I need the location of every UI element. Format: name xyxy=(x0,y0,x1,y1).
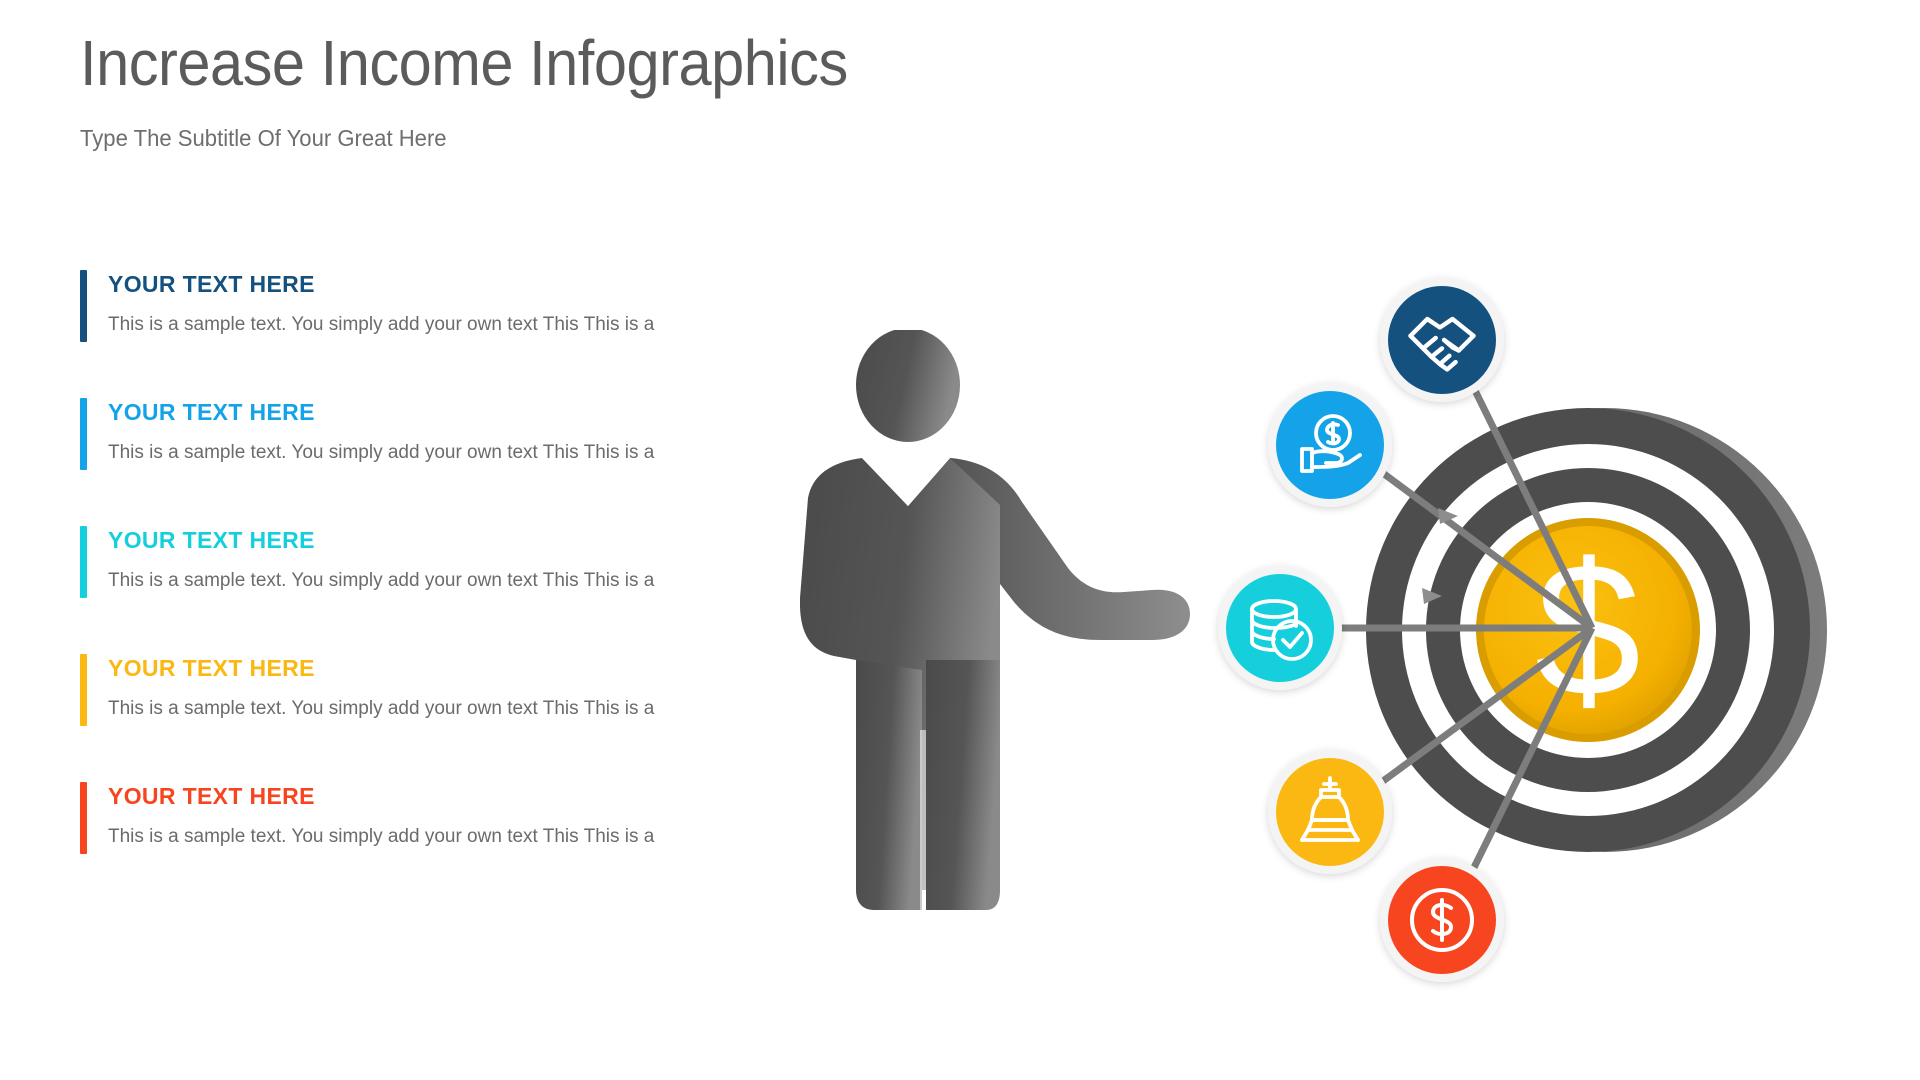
bullet-item-5[interactable]: YOUR TEXT HERE This is a sample text. Yo… xyxy=(80,774,780,902)
badge-coin-stack-check[interactable] xyxy=(1218,566,1342,690)
bullet-item-2[interactable]: YOUR TEXT HERE This is a sample text. Yo… xyxy=(80,390,780,518)
bullet-list: YOUR TEXT HERE This is a sample text. Yo… xyxy=(80,262,780,902)
badge-dollar-coin[interactable] xyxy=(1380,858,1504,982)
bullet-heading-5: YOUR TEXT HERE xyxy=(108,774,780,811)
page-title: Increase Income Infographics xyxy=(80,28,1103,100)
target-infographic: $ xyxy=(1190,240,1920,1030)
page-subtitle: Type The Subtitle Of Your Great Here xyxy=(80,125,1136,152)
bullet-heading-4: YOUR TEXT HERE xyxy=(108,646,780,683)
bullet-heading-2: YOUR TEXT HERE xyxy=(108,390,780,427)
bullet-body-3: This is a sample text. You simply add yo… xyxy=(108,569,780,594)
badge-handshake[interactable] xyxy=(1380,278,1504,402)
accent-bar-2 xyxy=(80,398,87,470)
accent-bar-1 xyxy=(80,270,87,342)
bullet-body-1: This is a sample text. You simply add yo… xyxy=(108,313,780,338)
bullet-body-2: This is a sample text. You simply add yo… xyxy=(108,441,780,466)
bullet-body-5: This is a sample text. You simply add yo… xyxy=(108,825,780,850)
accent-bar-4 xyxy=(80,654,87,726)
accent-bar-3 xyxy=(80,526,87,598)
badge-hand-coin[interactable] xyxy=(1268,383,1392,507)
accent-bar-5 xyxy=(80,782,87,854)
bullet-item-1[interactable]: YOUR TEXT HERE This is a sample text. Yo… xyxy=(80,262,780,390)
bullet-heading-3: YOUR TEXT HERE xyxy=(108,518,780,555)
badge-chess-king[interactable] xyxy=(1268,750,1392,874)
slide-header: Increase Income Infographics Type The Su… xyxy=(80,28,1180,152)
bullet-body-4: This is a sample text. You simply add yo… xyxy=(108,697,780,722)
businessman-silhouette-icon xyxy=(800,330,1200,930)
bullet-heading-1: YOUR TEXT HERE xyxy=(108,262,780,299)
bullet-item-4[interactable]: YOUR TEXT HERE This is a sample text. Yo… xyxy=(80,646,780,774)
bullet-item-3[interactable]: YOUR TEXT HERE This is a sample text. Yo… xyxy=(80,518,780,646)
